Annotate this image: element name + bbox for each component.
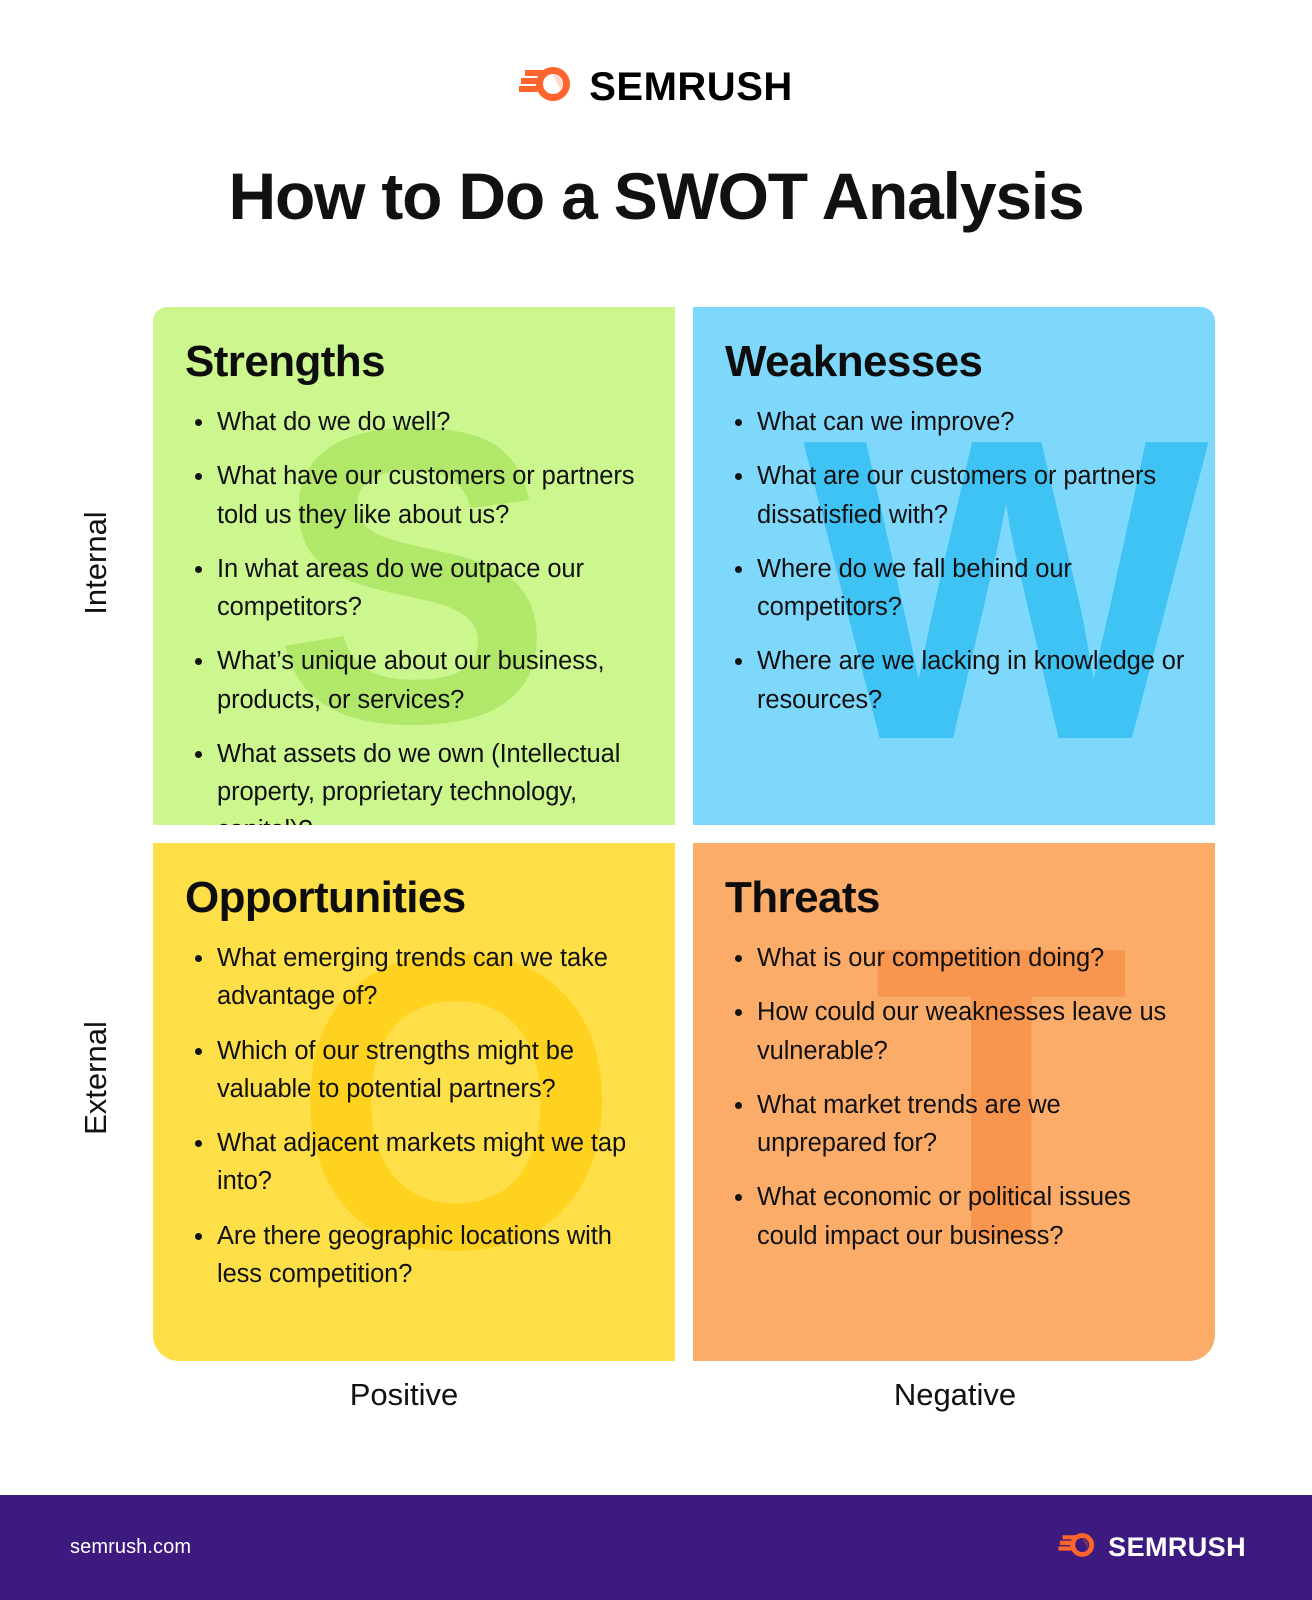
quadrant-weaknesses: W Weaknesses What can we improve? What a…: [693, 307, 1215, 825]
swot-matrix: S Strengths What do we do well? What hav…: [153, 307, 1215, 1360]
list-item: In what areas do we outpace our competit…: [185, 550, 645, 627]
list-item: What economic or political issues could …: [725, 1178, 1185, 1255]
semrush-comet-icon: [519, 64, 575, 109]
list-item: What are our customers or partners dissa…: [725, 457, 1185, 534]
list-item: What have our customers or partners told…: [185, 457, 645, 534]
list-item: What assets do we own (Intellectual prop…: [185, 735, 645, 825]
strengths-list: What do we do well? What have our custom…: [185, 403, 645, 825]
opportunities-list: What emerging trends can we take advanta…: [185, 939, 645, 1293]
list-item: What emerging trends can we take advanta…: [185, 939, 645, 1016]
quadrant-threats: T Threats What is our competition doing?…: [693, 843, 1215, 1361]
list-item: Are there geographic locations with less…: [185, 1217, 645, 1294]
quadrant-opportunities: O Opportunities What emerging trends can…: [153, 843, 675, 1361]
list-item: What’s unique about our business, produc…: [185, 642, 645, 719]
list-item: What adjacent markets might we tap into?: [185, 1124, 645, 1201]
footer-bar: semrush.com SEMRUSH: [0, 1495, 1312, 1600]
list-item: What do we do well?: [185, 403, 645, 441]
quadrant-heading-threats: Threats: [725, 875, 1185, 921]
quadrant-heading-opportunities: Opportunities: [185, 875, 645, 921]
brand-wordmark: SEMRUSH: [589, 67, 793, 107]
list-item: What market trends are we unprepared for…: [725, 1086, 1185, 1163]
threats-list: What is our competition doing? How could…: [725, 939, 1185, 1255]
footer-brand-wordmark: SEMRUSH: [1108, 1534, 1246, 1561]
list-item: How could our weaknesses leave us vulner…: [725, 993, 1185, 1070]
list-item: What can we improve?: [725, 403, 1185, 441]
weaknesses-list: What can we improve? What are our custom…: [725, 403, 1185, 719]
quadrant-strengths: S Strengths What do we do well? What hav…: [153, 307, 675, 825]
axis-label-positive: Positive: [153, 1377, 655, 1413]
axis-label-external: External: [78, 978, 114, 1178]
footer-brand-logo: SEMRUSH: [1058, 1531, 1246, 1564]
header-brand-logo: SEMRUSH: [0, 64, 1312, 109]
page-title: How to Do a SWOT Analysis: [0, 160, 1312, 233]
footer-url-link[interactable]: semrush.com: [70, 1536, 191, 1559]
semrush-comet-icon: [1058, 1531, 1098, 1564]
list-item: Which of our strengths might be valuable…: [185, 1032, 645, 1109]
axis-label-negative: Negative: [695, 1377, 1215, 1413]
swot-infographic: SEMRUSH How to Do a SWOT Analysis Intern…: [0, 0, 1312, 1600]
list-item: What is our competition doing?: [725, 939, 1185, 977]
quadrant-heading-strengths: Strengths: [185, 339, 645, 385]
axis-label-internal: Internal: [78, 463, 114, 663]
list-item: Where are we lacking in knowledge or res…: [725, 642, 1185, 719]
quadrant-heading-weaknesses: Weaknesses: [725, 339, 1185, 385]
list-item: Where do we fall behind our competitors?: [725, 550, 1185, 627]
